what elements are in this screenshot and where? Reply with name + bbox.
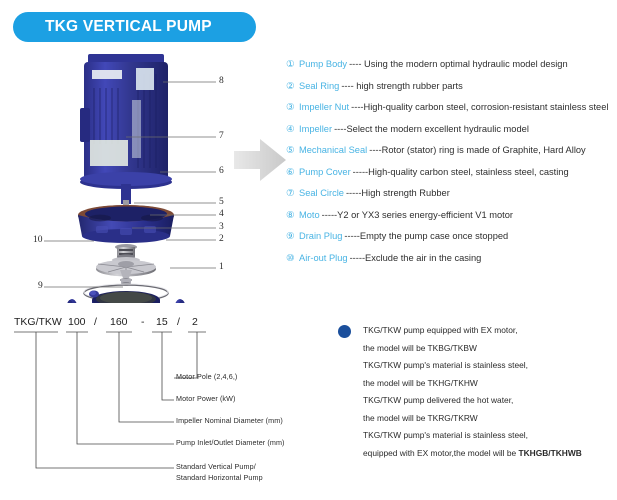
legend-part-name-1: Pump Body [299, 59, 347, 69]
legend-circle-number-5: ⑤ [286, 145, 299, 156]
callout-number-9: 9 [38, 281, 43, 291]
legend-item: ⑥ Pump Cover -----High-quality carbon st… [286, 167, 614, 189]
legend-part-desc-5: ----Rotor (stator) ring is made of Graph… [369, 145, 585, 155]
impeller-part [96, 260, 156, 278]
page-title-banner: TKG VERTICAL PUMP [13, 12, 256, 42]
model-code-label-motor-power: Motor Power (kW) [176, 394, 236, 403]
legend-circle-number-2: ② [286, 81, 299, 92]
model-code-label-motor-pole: Motor Pole (2,4,6,) [176, 372, 237, 381]
legend-item: ④ Impeller ----Select the modern excelle… [286, 124, 614, 146]
model-code-label-impeller-diameter: Impeller Nominal Diameter (mm) [176, 416, 283, 425]
variant-line-last: equipped with EX motor,the model will be… [338, 445, 613, 463]
callout-number-5: 5 [219, 197, 224, 207]
legend-part-name-5: Mechanical Seal [299, 145, 367, 155]
legend-part-name-7: Seal Circle [299, 188, 344, 198]
motor-part [80, 54, 172, 189]
legend-circle-number-7: ⑦ [286, 188, 299, 199]
legend-part-desc-1: ---- Using the modern optimal hydraulic … [349, 59, 568, 69]
legend-circle-number-3: ③ [286, 102, 299, 113]
legend-item: ⑩ Air-out Plug -----Exclude the air in t… [286, 253, 614, 275]
bullet-dot-icon [338, 325, 351, 338]
legend-part-desc-7: -----High strength Rubber [346, 188, 450, 198]
legend-part-desc-8: -----Y2 or YX3 series energy-efficient V… [322, 210, 513, 220]
legend-item: ③ Impeller Nut ----High-quality carbon s… [286, 102, 614, 124]
variant-line: TKG/TKW pump equipped with EX motor, [338, 322, 613, 340]
legend-part-desc-3: ----High-quality carbon steel, corrosion… [351, 102, 608, 112]
model-code-label-pump-type-line1: Standard Vertical Pump/ [176, 462, 256, 471]
legend-circle-number-6: ⑥ [286, 167, 299, 178]
model-code-breakdown: TKG/TKW 100 / 160 - 15 / 2 Motor Pole (2… [0, 316, 320, 496]
legend-part-name-3: Impeller Nut [299, 102, 349, 112]
pump-cover-part [78, 205, 174, 243]
legend-part-desc-4: ----Select the modern excellent hydrauli… [334, 124, 529, 134]
variant-line: the model will be TKBG/TKBW [338, 340, 613, 358]
legend-part-desc-6: -----High-quality carbon steel, stainles… [353, 167, 569, 177]
variant-line: TKG/TKW pump's material is stainless ste… [338, 357, 613, 375]
legend-circle-number-4: ④ [286, 124, 299, 135]
callout-number-7: 7 [219, 131, 224, 141]
legend-part-name-2: Seal Ring [299, 81, 339, 91]
callout-number-10: 10 [33, 235, 43, 245]
legend-circle-number-10: ⑩ [286, 253, 299, 264]
legend-item: ⑤ Mechanical Seal ----Rotor (stator) rin… [286, 145, 614, 167]
callout-number-1: 1 [219, 262, 224, 272]
variant-line: TKG/TKW pump's material is stainless ste… [338, 427, 613, 445]
callout-number-8: 8 [219, 76, 224, 86]
model-code-label-pump-type-line2: Standard Horizontal Pump [176, 473, 263, 482]
legend-part-name-6: Pump Cover [299, 167, 351, 177]
right-arrow-icon [232, 136, 288, 184]
legend-part-name-8: Moto [299, 210, 320, 220]
legend-part-name-9: Drain Plug [299, 231, 342, 241]
legend-part-name-4: Impeller [299, 124, 332, 134]
legend-item: ⑨ Drain Plug -----Empty the pump case on… [286, 231, 614, 253]
variant-line: the model will be TKRG/TKRW [338, 410, 613, 428]
legend-part-desc-9: -----Empty the pump case once stopped [344, 231, 508, 241]
model-code-label-inlet-diameter: Pump Inlet/Outlet Diameter (mm) [176, 438, 285, 447]
legend-item: ② Seal Ring ---- high strength rubber pa… [286, 81, 614, 103]
legend-item: ⑧ Moto -----Y2 or YX3 series energy-effi… [286, 210, 614, 232]
page-title: TKG VERTICAL PUMP [13, 18, 212, 36]
callout-number-2: 2 [219, 234, 224, 244]
variant-line: the model will be TKHG/TKHW [338, 375, 613, 393]
legend-circle-number-1: ① [286, 59, 299, 70]
legend-part-desc-2: ---- high strength rubber parts [341, 81, 462, 91]
callout-number-6: 6 [219, 166, 224, 176]
variant-line: TKG/TKW pump delivered the hot water, [338, 392, 613, 410]
exploded-pump-diagram [20, 48, 260, 303]
callout-number-4: 4 [219, 209, 224, 219]
callout-number-3: 3 [219, 222, 224, 232]
legend-part-name-10: Air-out Plug [299, 253, 348, 263]
legend-circle-number-8: ⑧ [286, 210, 299, 221]
legend-part-desc-10: -----Exclude the air in the casing [350, 253, 482, 263]
legend-item: ① Pump Body ---- Using the modern optima… [286, 59, 614, 81]
model-code-leader-lines [0, 316, 320, 496]
model-variants-block: TKG/TKW pump equipped with EX motor, the… [338, 322, 613, 462]
legend-item: ⑦ Seal Circle -----High strength Rubber [286, 188, 614, 210]
air-out-plug-part [89, 291, 99, 298]
legend-circle-number-9: ⑨ [286, 231, 299, 242]
parts-legend-list: ① Pump Body ---- Using the modern optima… [286, 59, 614, 274]
